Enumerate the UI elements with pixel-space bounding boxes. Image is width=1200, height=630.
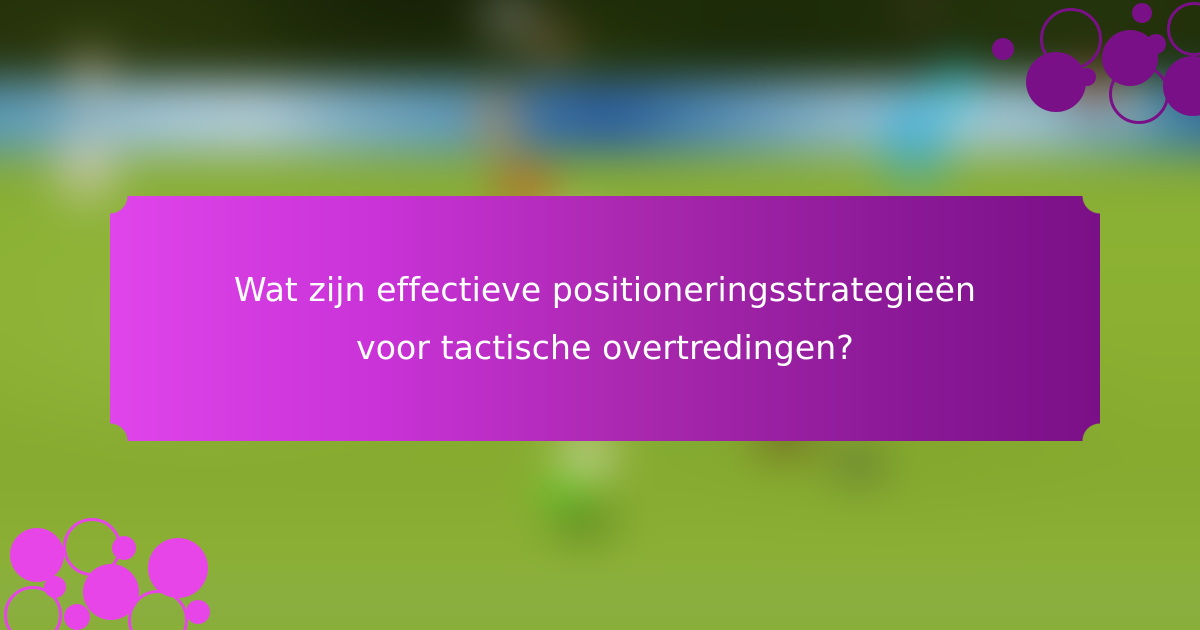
social-card: Wat zijn effectieve positioneringsstrate… [0,0,1200,630]
banner-content: Wat zijn effectieve positioneringsstrate… [110,204,1100,433]
headline-line-1: Wat zijn effectieve positioneringsstrate… [234,270,976,309]
spectator-far-right-figure [1030,30,1160,170]
headline-banner: Wat zijn effectieve positioneringsstrate… [110,196,1100,441]
headline-line-2: voor tactische overtredingen? [356,328,854,367]
headline-text: Wat zijn effectieve positioneringsstrate… [175,261,1035,377]
